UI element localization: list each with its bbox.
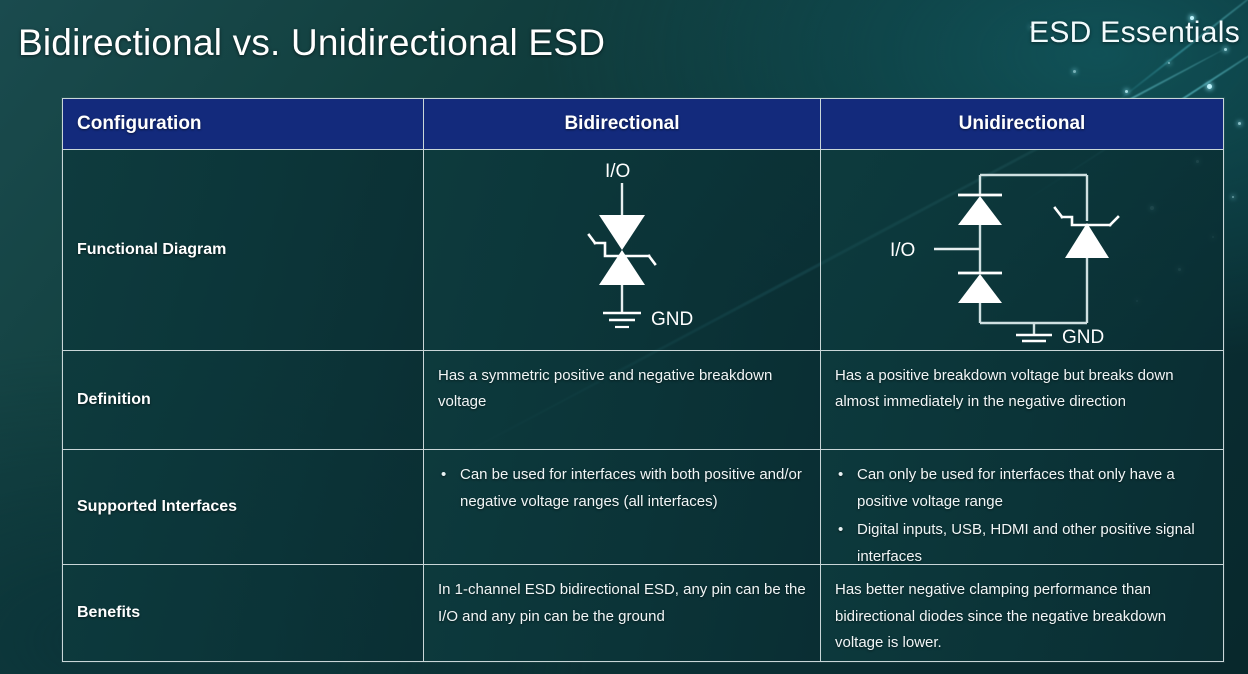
row-label: Definition <box>63 351 423 449</box>
comparison-table: Configuration Bidirectional Unidirection… <box>62 98 1224 662</box>
cell-text: In 1-channel ESD bidirectional ESD, any … <box>424 565 820 640</box>
row-label: Benefits <box>63 565 423 661</box>
table-header-row: Configuration Bidirectional Unidirection… <box>63 99 1223 149</box>
bullet-list: Can only be used for interfaces that onl… <box>821 450 1223 583</box>
cell-text: Has a symmetric positive and negative br… <box>424 351 820 426</box>
benefits-bidirectional-cell: In 1-channel ESD bidirectional ESD, any … <box>423 565 820 661</box>
series-kicker: ESD Essentials <box>1029 16 1240 50</box>
unidirectional-diagram-cell: I/O GND <box>820 150 1223 350</box>
page-title: Bidirectional vs. Unidirectional ESD <box>18 22 605 64</box>
list-item: Can be used for interfaces with both pos… <box>438 462 810 515</box>
table-row-definition: Definition Has a symmetric positive and … <box>63 350 1223 449</box>
star-dot <box>1073 70 1076 73</box>
benefits-unidirectional-cell: Has better negative clamping performance… <box>820 565 1223 661</box>
table-row-benefits: Benefits In 1-channel ESD bidirectional … <box>63 564 1223 661</box>
column-header-bidirectional: Bidirectional <box>423 99 820 149</box>
definition-bidirectional-cell: Has a symmetric positive and negative br… <box>423 351 820 449</box>
table-row-supported-interfaces: Supported Interfaces Can be used for int… <box>63 449 1223 564</box>
gnd-label: GND <box>651 309 693 330</box>
star-dot <box>1232 196 1234 198</box>
column-header-configuration: Configuration <box>63 99 423 149</box>
star-dot <box>1168 62 1170 64</box>
row-label-cell: Benefits <box>63 565 423 661</box>
list-item: Digital inputs, USB, HDMI and other posi… <box>835 517 1213 570</box>
row-label-cell: Functional Diagram <box>63 150 423 350</box>
row-label-cell: Supported Interfaces <box>63 450 423 564</box>
cell-text: Has a positive breakdown voltage but bre… <box>821 351 1223 426</box>
row-label: Functional Diagram <box>63 150 423 350</box>
gnd-label: GND <box>1062 327 1104 345</box>
supported-unidirectional-cell: Can only be used for interfaces that onl… <box>820 450 1223 564</box>
unidirectional-circuit-diagram: I/O GND <box>821 150 1223 350</box>
bidirectional-circuit-diagram: I/O GND <box>424 150 820 350</box>
list-item: Can only be used for interfaces that onl… <box>835 462 1213 515</box>
io-label: I/O <box>890 240 915 261</box>
bullet-list: Can be used for interfaces with both pos… <box>424 450 820 527</box>
io-label: I/O <box>605 161 630 182</box>
row-label-cell: Definition <box>63 351 423 449</box>
star-dot <box>1125 90 1128 93</box>
definition-unidirectional-cell: Has a positive breakdown voltage but bre… <box>820 351 1223 449</box>
bidirectional-diagram-cell: I/O GND <box>423 150 820 350</box>
table-row-functional-diagram: Functional Diagram I/O <box>63 149 1223 350</box>
column-header-unidirectional: Unidirectional <box>820 99 1223 149</box>
cell-text: Has better negative clamping performance… <box>821 565 1223 667</box>
supported-bidirectional-cell: Can be used for interfaces with both pos… <box>423 450 820 564</box>
row-label: Supported Interfaces <box>63 450 423 564</box>
star-dot <box>1238 122 1241 125</box>
star-dot <box>1207 84 1212 89</box>
